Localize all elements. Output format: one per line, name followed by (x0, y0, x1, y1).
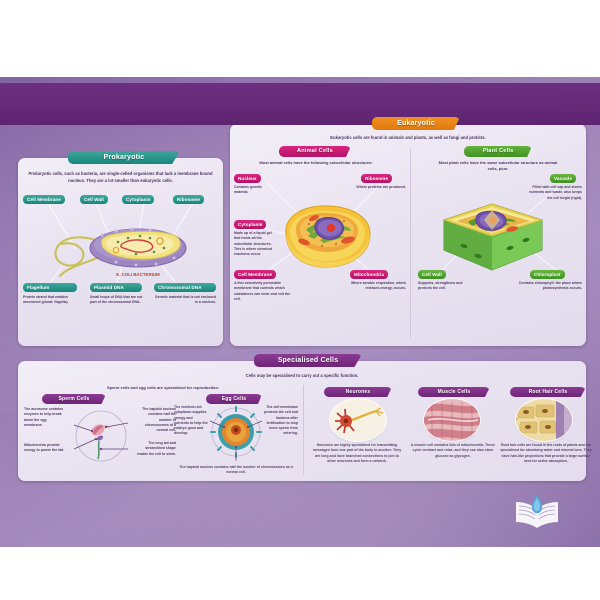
section-heading-prokaryotic: Prokaryotic (68, 151, 180, 164)
sperm-cell-diagram (70, 405, 132, 467)
plant-text-chloroplast: Contains chlorophyll: the place where ph… (518, 281, 582, 292)
subsection-heading-root-hair-cells: Root Hair Cells (510, 387, 586, 397)
egg-note-nucleus: The haploid nucleus contains half the nu… (178, 465, 294, 476)
panel-eukaryotic: Eukaryotic cells are found in animals an… (230, 124, 586, 346)
root-hair-bubble (516, 399, 572, 441)
neurones-text: Neurones are highly specialised for tran… (312, 443, 402, 464)
neuron-bubble (330, 399, 386, 441)
subsection-heading-neurones: Neurones (324, 387, 392, 397)
animal-text-cell-membrane: A thin selectively permeable membrane th… (234, 281, 294, 302)
prokaryotic-text-flagellum: Protein strand that enables movement (pl… (23, 295, 78, 306)
subsection-heading-sperm-cells: Sperm Cells (42, 394, 106, 404)
section-heading-specialised-cells: Specialised Cells (254, 354, 362, 367)
muscle-fibre-icon (424, 399, 480, 441)
sperm-note-tail: The long tail and streamlined shape enab… (136, 441, 176, 457)
eukaryotic-intro: Eukaryotic cells are found in animals an… (270, 135, 546, 142)
header-band-notch (559, 83, 600, 125)
sperm-note-nucleus: The haploid nucleus contains half the nu… (136, 407, 176, 433)
prokaryotic-label-chromosomal-dna: Chromosomal DNA (154, 283, 216, 292)
plant-text-cell-wall: Supports, strengthens and protects the c… (418, 281, 468, 292)
panel-specialised: Cells may be specialised to carry out a … (18, 361, 586, 481)
prokaryotic-text-plasmid-dna: Small loops of DNA that are not part of … (90, 295, 144, 306)
publisher-logo (514, 495, 560, 529)
root-hair-cells-text: Root hair cells are found in the roots o… (500, 443, 592, 464)
animal-label-cytoplasm: Cytoplasm (234, 220, 266, 229)
subsection-heading-plant-cells: Plant Cells (464, 146, 532, 157)
plant-cell-diagram (438, 198, 548, 276)
plant-label-chloroplast: Chloroplast (530, 270, 565, 279)
subsection-heading-egg-cells: Egg Cells (206, 394, 262, 404)
animal-label-nucleus: Nucleus (234, 174, 261, 183)
animal-text-nucleus: Contains genetic material. (234, 185, 276, 196)
muscle-cells-text: A muscle cell contains lots of mitochond… (408, 443, 498, 459)
animal-label-cell-membrane: Cell Membrane (234, 270, 276, 279)
egg-note-membrane: The cell membrane protects the cell and … (262, 405, 298, 437)
prokaryotic-label-flagellum: Flagellum (23, 283, 77, 292)
sperm-note-acrosome: The acrosome contains enzymes to help br… (24, 407, 66, 428)
prokaryotic-label-cytoplasm: Cytoplasm (122, 195, 154, 204)
plant-label-cell-wall: Cell Wall (418, 270, 446, 279)
egg-note-cytoplasm: The nutrient-rich cytoplasm supplies ene… (174, 405, 208, 437)
animal-label-mitochondria: Mitochondria (350, 270, 388, 279)
root-hair-icon (516, 399, 572, 441)
eukaryotic-column-divider (410, 148, 411, 338)
plant-label-vacuole: Vacuole (550, 174, 576, 183)
prokaryotic-label-ribosome: Ribosome (173, 195, 204, 204)
prokaryotic-intro: Prokaryotic cells, such as bacteria, are… (26, 171, 215, 184)
prokaryotic-label-plasmid-dna: Plasmid DNA (90, 283, 142, 292)
animal-label-ribosome: Ribosome (361, 174, 392, 183)
bacterium-caption: E. COLI BACTERIUM (116, 272, 160, 277)
plant-intro: Most plant cells have the same subcellul… (436, 160, 560, 172)
panel-prokaryotic: Prokaryotic cells, such as bacteria, are… (18, 158, 223, 346)
animal-intro: Most animal cells have the following sub… (254, 160, 378, 166)
animal-text-cytoplasm: Made up of a liquid gel that holds all t… (234, 231, 278, 257)
animal-text-ribosome: Where proteins are produced. (342, 185, 406, 190)
sperm-note-mitochondria: Mitochondria provide energy to power the… (24, 443, 66, 454)
neuron-icon (330, 399, 386, 441)
section-heading-eukaryotic: Eukaryotic (372, 117, 460, 130)
bacterium-diagram: E. COLI BACTERIUM (46, 210, 206, 284)
poster-header-band (0, 83, 600, 125)
egg-cell-diagram (208, 405, 264, 463)
prokaryotic-label-cell-membrane: Cell Membrane (23, 195, 65, 204)
subsection-heading-muscle-cells: Muscle Cells (418, 387, 490, 397)
reproduction-note: Sperm cells and egg cells are specialise… (54, 385, 272, 391)
prokaryotic-label-cell-wall: Cell Wall (80, 195, 108, 204)
poster-canvas: Cell Structures All known living things … (0, 77, 600, 547)
animal-cell-diagram (278, 200, 374, 274)
muscle-bubble (424, 399, 480, 441)
specialised-column-divider (303, 385, 304, 475)
subsection-heading-animal-cells: Animal Cells (279, 146, 351, 157)
animal-text-mitochondria: Where aerobic respiration, which release… (340, 281, 406, 292)
specialised-intro: Cells may be specialised to carry out a … (172, 373, 432, 380)
prokaryotic-text-chromosomal-dna: Genetic material that is not enclosed in… (154, 295, 216, 306)
